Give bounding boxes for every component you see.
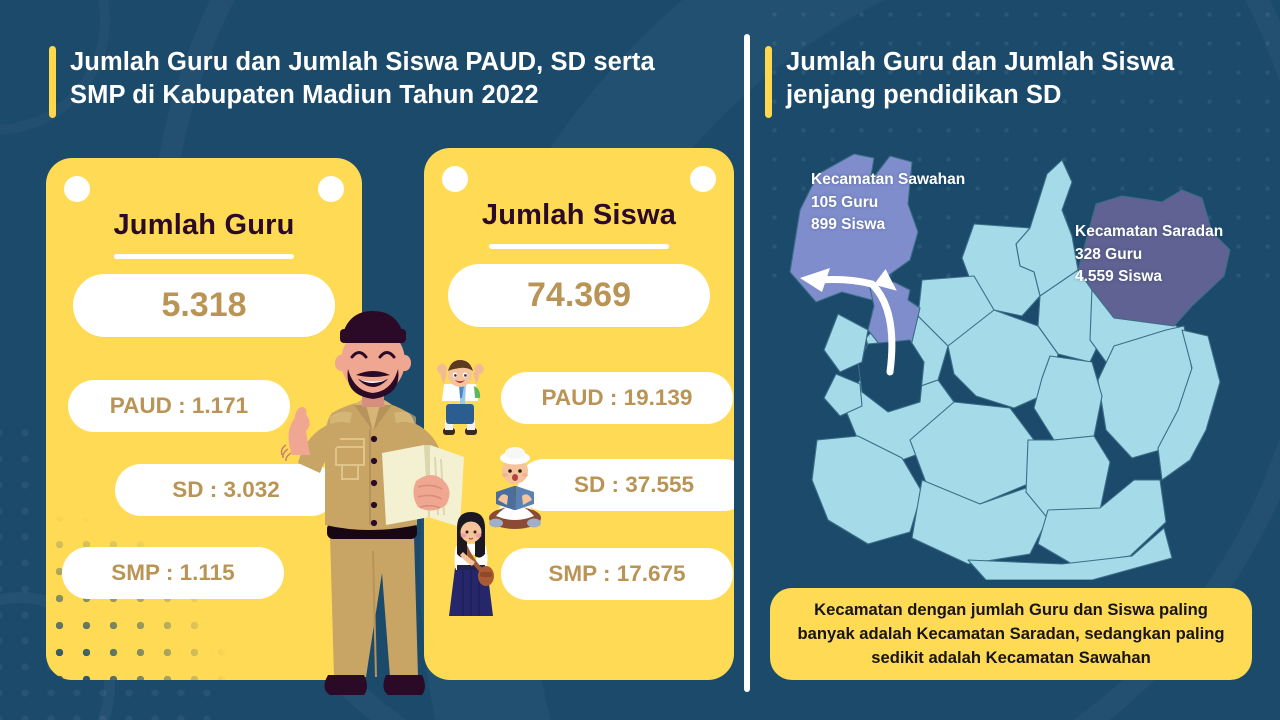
map-label-sawahan: Kecamatan Sawahan 105 Guru 899 Siswa <box>811 169 965 237</box>
schoolgirl-icon <box>443 508 499 620</box>
card-title-guru: Jumlah Guru <box>46 209 362 242</box>
card-breakdown-siswa-smp: SMP : 17.675 <box>501 548 733 600</box>
title-accent-bar <box>765 46 772 118</box>
left-panel-title: Jumlah Guru dan Jumlah Siswa PAUD, SD se… <box>49 46 709 118</box>
right-panel-title: Jumlah Guru dan Jumlah Siswa jenjang pen… <box>765 46 1235 118</box>
card-pin-hole-right <box>690 166 716 192</box>
map-label-saradan-students: 4.559 Siswa <box>1075 266 1223 289</box>
cheering-boy-icon <box>432 358 490 440</box>
card-title-siswa: Jumlah Siswa <box>424 199 734 232</box>
card-title-underline <box>489 244 669 249</box>
card-breakdown-guru-smp: SMP : 1.115 <box>62 547 284 599</box>
map-caption-box: Kecamatan dengan jumlah Guru dan Siswa p… <box>770 588 1252 680</box>
title-accent-bar <box>49 46 56 118</box>
card-pin-hole-right <box>318 176 344 202</box>
card-pin-hole-left <box>64 176 90 202</box>
map-label-saradan: Kecamatan Saradan 328 Guru 4.559 Siswa <box>1075 221 1223 289</box>
right-panel-title-text: Jumlah Guru dan Jumlah Siswa jenjang pen… <box>786 46 1235 118</box>
map-label-sawahan-students: 899 Siswa <box>811 214 965 237</box>
map-caption-text: Kecamatan dengan jumlah Guru dan Siswa p… <box>786 598 1236 670</box>
panel-divider <box>744 34 750 692</box>
left-panel-title-text: Jumlah Guru dan Jumlah Siswa PAUD, SD se… <box>70 46 709 118</box>
map-panel: Kecamatan Sawahan 105 Guru 899 Siswa Kec… <box>762 140 1262 580</box>
map-label-sawahan-teachers: 105 Guru <box>811 192 965 215</box>
card-breakdown-siswa-paud: PAUD : 19.139 <box>501 372 733 424</box>
card-pin-hole-left <box>442 166 468 192</box>
card-breakdown-siswa-sd: SD : 37.555 <box>518 459 734 511</box>
map-label-sawahan-name: Kecamatan Sawahan <box>811 169 965 192</box>
card-breakdown-guru-paud: PAUD : 1.171 <box>68 380 290 432</box>
map-label-saradan-teachers: 328 Guru <box>1075 244 1223 267</box>
card-total-siswa: 74.369 <box>448 264 710 327</box>
card-title-underline <box>114 254 294 259</box>
map-label-saradan-name: Kecamatan Saradan <box>1075 221 1223 244</box>
